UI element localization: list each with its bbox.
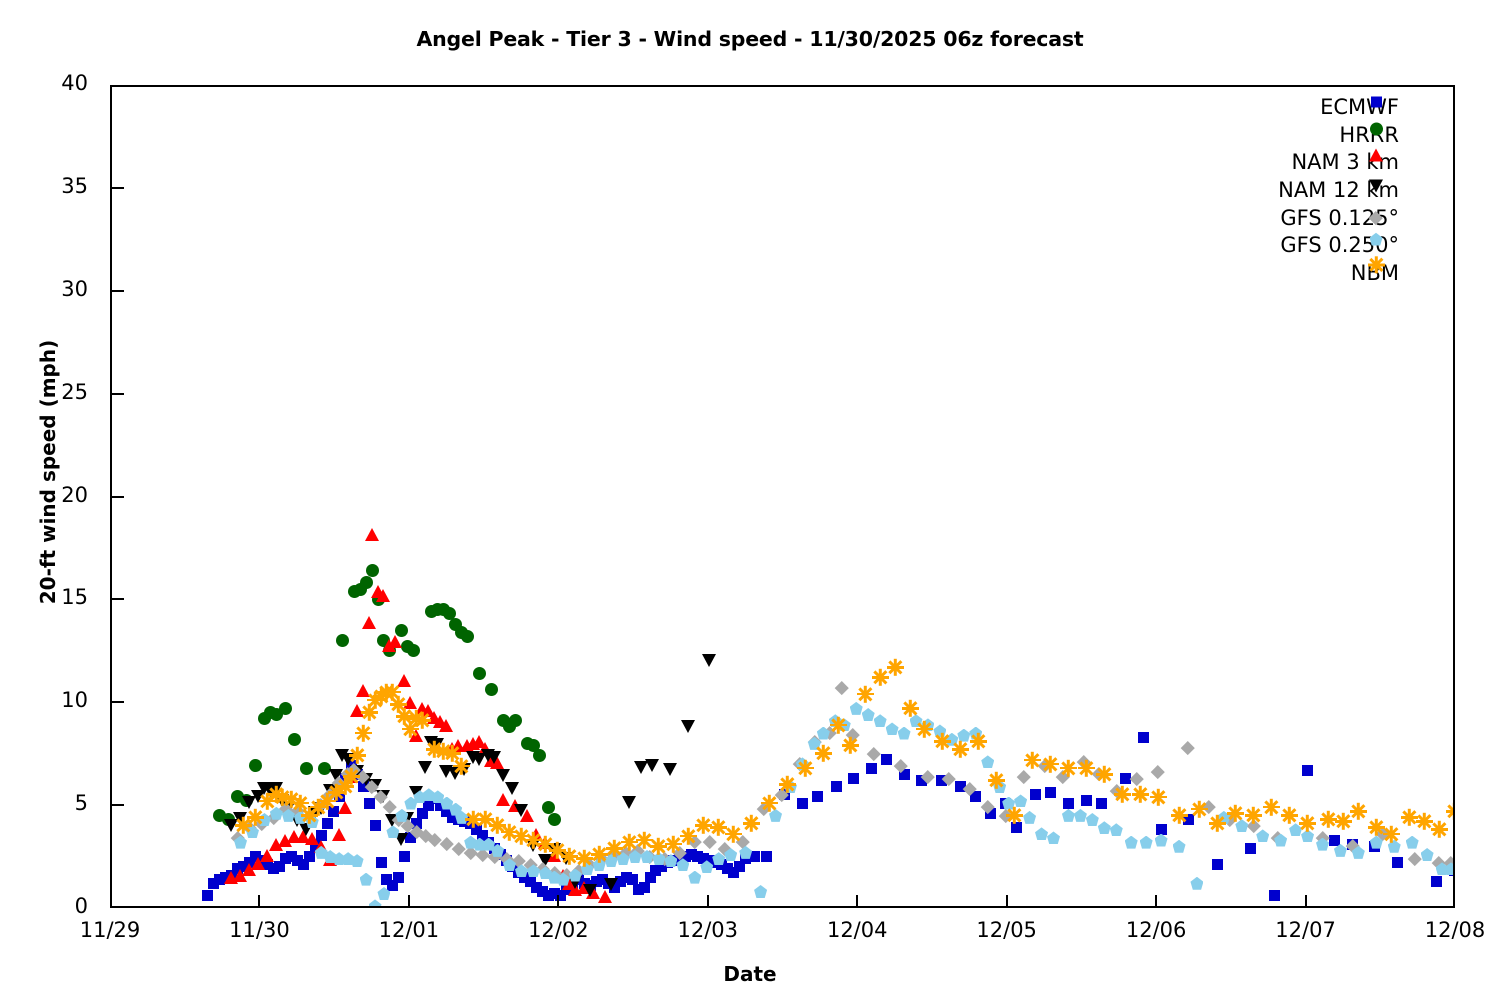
data-point [576,850,593,867]
data-point [314,840,328,853]
data-point [1138,732,1149,743]
data-point [619,846,632,859]
data-point [529,828,543,841]
data-point [428,833,441,846]
data-point [1449,865,1456,876]
data-point [490,756,504,769]
data-point [1217,811,1230,824]
data-point [598,890,612,903]
data-point [739,846,752,859]
data-point [872,669,889,686]
legend-label: GFS 0.125° [1280,208,1405,229]
data-point [793,757,806,770]
data-point [629,850,642,863]
data-point [356,684,370,697]
data-point [830,716,847,733]
legend-item[interactable]: NBM [1180,260,1405,288]
data-point [581,862,594,875]
data-point [688,835,701,848]
data-point [1030,789,1041,800]
data-point [452,842,465,855]
data-point [866,763,877,774]
legend-marker-circle-icon [1370,122,1383,135]
data-point [477,830,488,841]
data-point [1269,890,1280,901]
x-tick-label: 12/03 [638,918,778,942]
data-point [981,755,994,768]
data-point [562,877,576,890]
data-point [344,770,358,783]
data-point [269,782,283,795]
data-point [224,871,238,884]
data-point [256,855,267,866]
data-point [322,818,333,829]
data-point [404,797,417,810]
data-point [1017,770,1030,783]
data-point [1383,825,1400,842]
data-point [584,858,597,871]
data-point [663,763,677,776]
data-point [251,790,265,803]
data-point [586,886,600,899]
data-point [244,857,255,868]
data-point [988,772,1005,789]
data-point [862,708,875,721]
data-point [341,753,355,766]
data-point [1334,844,1347,857]
data-point [894,759,907,772]
data-point [232,863,243,874]
data-point [381,874,392,885]
data-point [501,855,512,866]
data-point [383,644,396,657]
data-point [680,851,691,862]
x-tick-mark [1155,895,1157,908]
data-point [301,807,318,824]
data-point [595,852,608,865]
data-point [549,842,566,859]
data-point [409,729,423,742]
data-point [645,759,659,772]
x-tick-label: 12/04 [787,918,927,942]
data-point [1125,836,1138,849]
chart-title: Angel Peak - Tier 3 - Wind speed - 11/30… [0,27,1500,51]
data-point [718,842,731,855]
data-point [250,851,261,862]
data-point [969,727,982,740]
data-point [1388,840,1401,853]
legend-item[interactable]: NAM 3 km [1180,149,1405,177]
data-point [1301,829,1314,842]
data-point [1271,831,1284,844]
data-point [401,819,414,832]
data-point [520,809,534,822]
data-point [343,768,360,785]
data-point [916,720,933,737]
data-point [617,852,630,865]
y-tick-mark [110,393,124,395]
data-point [547,849,561,862]
data-point [323,788,336,801]
data-point [465,811,482,828]
data-point [1156,824,1167,835]
data-point [294,811,307,824]
data-point [593,858,606,871]
data-point [281,802,295,815]
data-point [1002,797,1015,810]
data-point [842,737,859,754]
data-point [639,882,650,893]
data-point [761,795,778,812]
data-point [548,813,561,826]
legend-item[interactable]: ECMWF [1180,94,1405,122]
data-point [1368,819,1385,836]
data-point [1151,765,1164,778]
data-point [607,848,620,861]
data-point [373,688,390,705]
data-point [524,858,537,871]
data-point [305,832,319,845]
data-point [396,708,413,725]
data-point [415,702,429,715]
data-point [449,618,462,631]
data-point [1035,827,1048,840]
data-point [662,857,673,868]
data-point [362,616,376,629]
data-point [283,790,300,807]
data-point [503,720,516,733]
data-point [279,702,292,715]
data-point [1023,811,1036,824]
data-point [503,858,516,871]
data-point [393,872,404,883]
data-point [543,890,554,901]
data-point [202,890,213,901]
data-point [577,881,591,894]
data-point [963,782,976,795]
data-point [410,825,423,838]
data-point [292,855,303,866]
data-point [444,745,461,762]
data-point [300,762,313,775]
data-point [226,870,237,881]
data-point [838,718,851,731]
data-point [500,852,513,865]
data-point [902,700,919,717]
data-point [525,832,542,849]
data-point [712,852,725,865]
data-point [722,863,733,874]
data-point [401,640,414,653]
data-point [1098,821,1111,834]
data-point [1335,813,1352,830]
y-tick-mark [110,290,124,292]
data-point [513,867,524,878]
data-point [547,843,561,856]
data-point [426,741,443,758]
data-point [418,761,432,774]
data-point [1014,794,1027,807]
data-point [692,851,703,862]
data-point [1347,839,1358,850]
data-point [243,821,256,834]
data-point [489,817,506,834]
data-point [527,739,540,752]
data-point [455,626,468,639]
data-point [970,733,987,750]
data-point [376,790,390,803]
data-point [335,749,349,762]
data-point [395,624,408,637]
data-point [603,878,614,889]
data-point [1114,786,1131,803]
x-tick-label: 12/01 [339,918,479,942]
data-point [1421,848,1434,861]
data-point [319,792,336,809]
data-point [431,603,444,616]
data-point [233,812,247,825]
data-point [242,863,256,876]
data-point [258,712,271,725]
data-point [698,853,709,864]
data-point [262,859,273,870]
data-point [1047,831,1060,844]
data-point [231,790,244,803]
data-point [374,790,387,803]
data-point [351,854,364,867]
data-point [471,824,482,835]
data-point [536,862,549,875]
data-point [461,630,474,643]
data-point [224,819,238,832]
data-point [501,823,518,840]
data-point [633,884,644,895]
data-point [1446,803,1456,820]
data-point [526,839,540,852]
x-tick-label: 11/30 [189,918,329,942]
data-point [542,801,555,814]
x-tick-label: 12/07 [1236,918,1376,942]
data-point [387,880,398,891]
data-point [808,735,821,748]
data-point [342,852,355,865]
data-point [496,793,510,806]
data-point [365,780,378,793]
data-point [465,818,476,829]
data-point [361,704,378,721]
data-point [664,854,677,867]
data-point [443,607,456,620]
data-point [316,830,327,841]
data-point [472,735,486,748]
data-point [519,872,530,883]
data-point [1223,813,1236,826]
data-point [340,773,351,784]
data-point [268,863,279,874]
data-point [525,876,536,887]
data-point [874,714,887,727]
data-point [464,836,477,849]
data-point [341,767,354,780]
data-point [440,797,453,810]
data-point [433,715,447,728]
data-point [414,712,431,729]
data-point [910,714,923,727]
y-tick-label: 30 [28,277,88,301]
data-point [1370,836,1383,849]
data-point [472,753,486,766]
data-point [399,851,410,862]
data-point [829,714,842,727]
y-tick-label: 20 [28,483,88,507]
data-point [364,798,375,809]
data-point [371,585,385,598]
data-point [441,806,452,817]
data-point [306,815,319,828]
data-point [815,745,832,762]
data-point [473,667,486,680]
data-point [296,830,310,843]
data-point [808,737,821,750]
data-point [743,815,760,832]
data-point [323,853,337,866]
data-point [315,846,328,859]
data-point [378,683,395,700]
data-point [898,727,911,740]
data-point [775,788,788,801]
data-point [728,867,739,878]
data-point [673,846,686,859]
data-point [527,864,540,877]
data-point [1436,862,1449,875]
data-point [348,585,361,598]
data-point [292,795,309,812]
data-point [886,722,899,735]
data-point [1245,843,1256,854]
data-point [703,835,716,848]
data-point [386,825,399,838]
data-point [533,749,546,762]
data-point [429,793,440,804]
data-point [999,809,1012,822]
data-point [797,798,808,809]
data-point [779,776,796,793]
y-tick-label: 35 [28,174,88,198]
data-point [631,844,644,857]
chart-root: Angel Peak - Tier 3 - Wind speed - 11/30… [0,0,1500,1000]
data-point [310,799,327,816]
legend-item[interactable]: NAM 12 km [1180,177,1405,205]
y-tick-mark [110,598,124,600]
data-point [952,741,969,758]
data-point [1063,798,1074,809]
data-point [310,841,321,852]
data-point [650,838,667,855]
data-point [275,794,289,807]
legend-label: GFS 0.250° [1280,235,1405,256]
data-point [736,835,749,848]
data-point [955,781,966,792]
data-point [797,760,814,777]
data-point [921,718,934,731]
data-point [1155,834,1168,847]
data-point [290,814,304,827]
y-tick-label: 5 [28,791,88,815]
data-point [887,659,904,676]
data-point [881,754,892,765]
data-point [1329,835,1340,846]
data-point [246,825,259,838]
data-point [337,778,354,795]
data-point [288,733,301,746]
data-point [377,887,390,900]
data-point [440,837,453,850]
data-point [222,813,235,826]
data-point [427,711,441,724]
legend-item[interactable]: GFS 0.125° [1180,204,1405,232]
data-point [308,806,322,819]
data-point [368,779,382,792]
data-point [366,564,379,577]
data-point [323,784,337,797]
legend-item[interactable]: HRRR [1180,122,1405,150]
legend-label: NAM 3 km [1291,152,1405,173]
legend-label: ECMWF [1320,97,1405,118]
data-point [569,869,582,882]
data-point [796,757,809,770]
data-point [560,868,573,881]
data-point [1202,800,1215,813]
data-point [985,808,996,819]
data-point [496,769,510,782]
data-point [621,834,638,851]
data-point [945,733,958,746]
data-point [641,850,654,863]
data-point [332,828,346,841]
data-point [408,710,425,727]
data-point [1247,819,1260,832]
data-point [413,790,426,803]
data-point [559,852,573,865]
data-point [1011,822,1022,833]
data-point [1092,767,1105,780]
data-point [419,829,432,842]
data-point [537,886,548,897]
data-point [784,780,797,793]
data-point [1392,857,1403,868]
y-tick-mark [110,701,124,703]
data-point [676,858,689,871]
data-point [710,857,721,868]
data-point [385,814,399,827]
data-point [409,786,423,799]
data-point [674,853,685,864]
data-point [508,799,522,812]
data-point [208,878,219,889]
x-tick-mark [856,895,858,908]
data-point [505,782,519,795]
data-point [286,851,297,862]
data-point [489,843,500,854]
data-point [303,809,316,822]
data-point [716,859,727,870]
data-point [251,857,265,870]
data-point [377,634,390,647]
data-point [514,804,528,817]
data-point [1316,831,1329,844]
data-point [936,775,947,786]
data-point [934,733,951,750]
